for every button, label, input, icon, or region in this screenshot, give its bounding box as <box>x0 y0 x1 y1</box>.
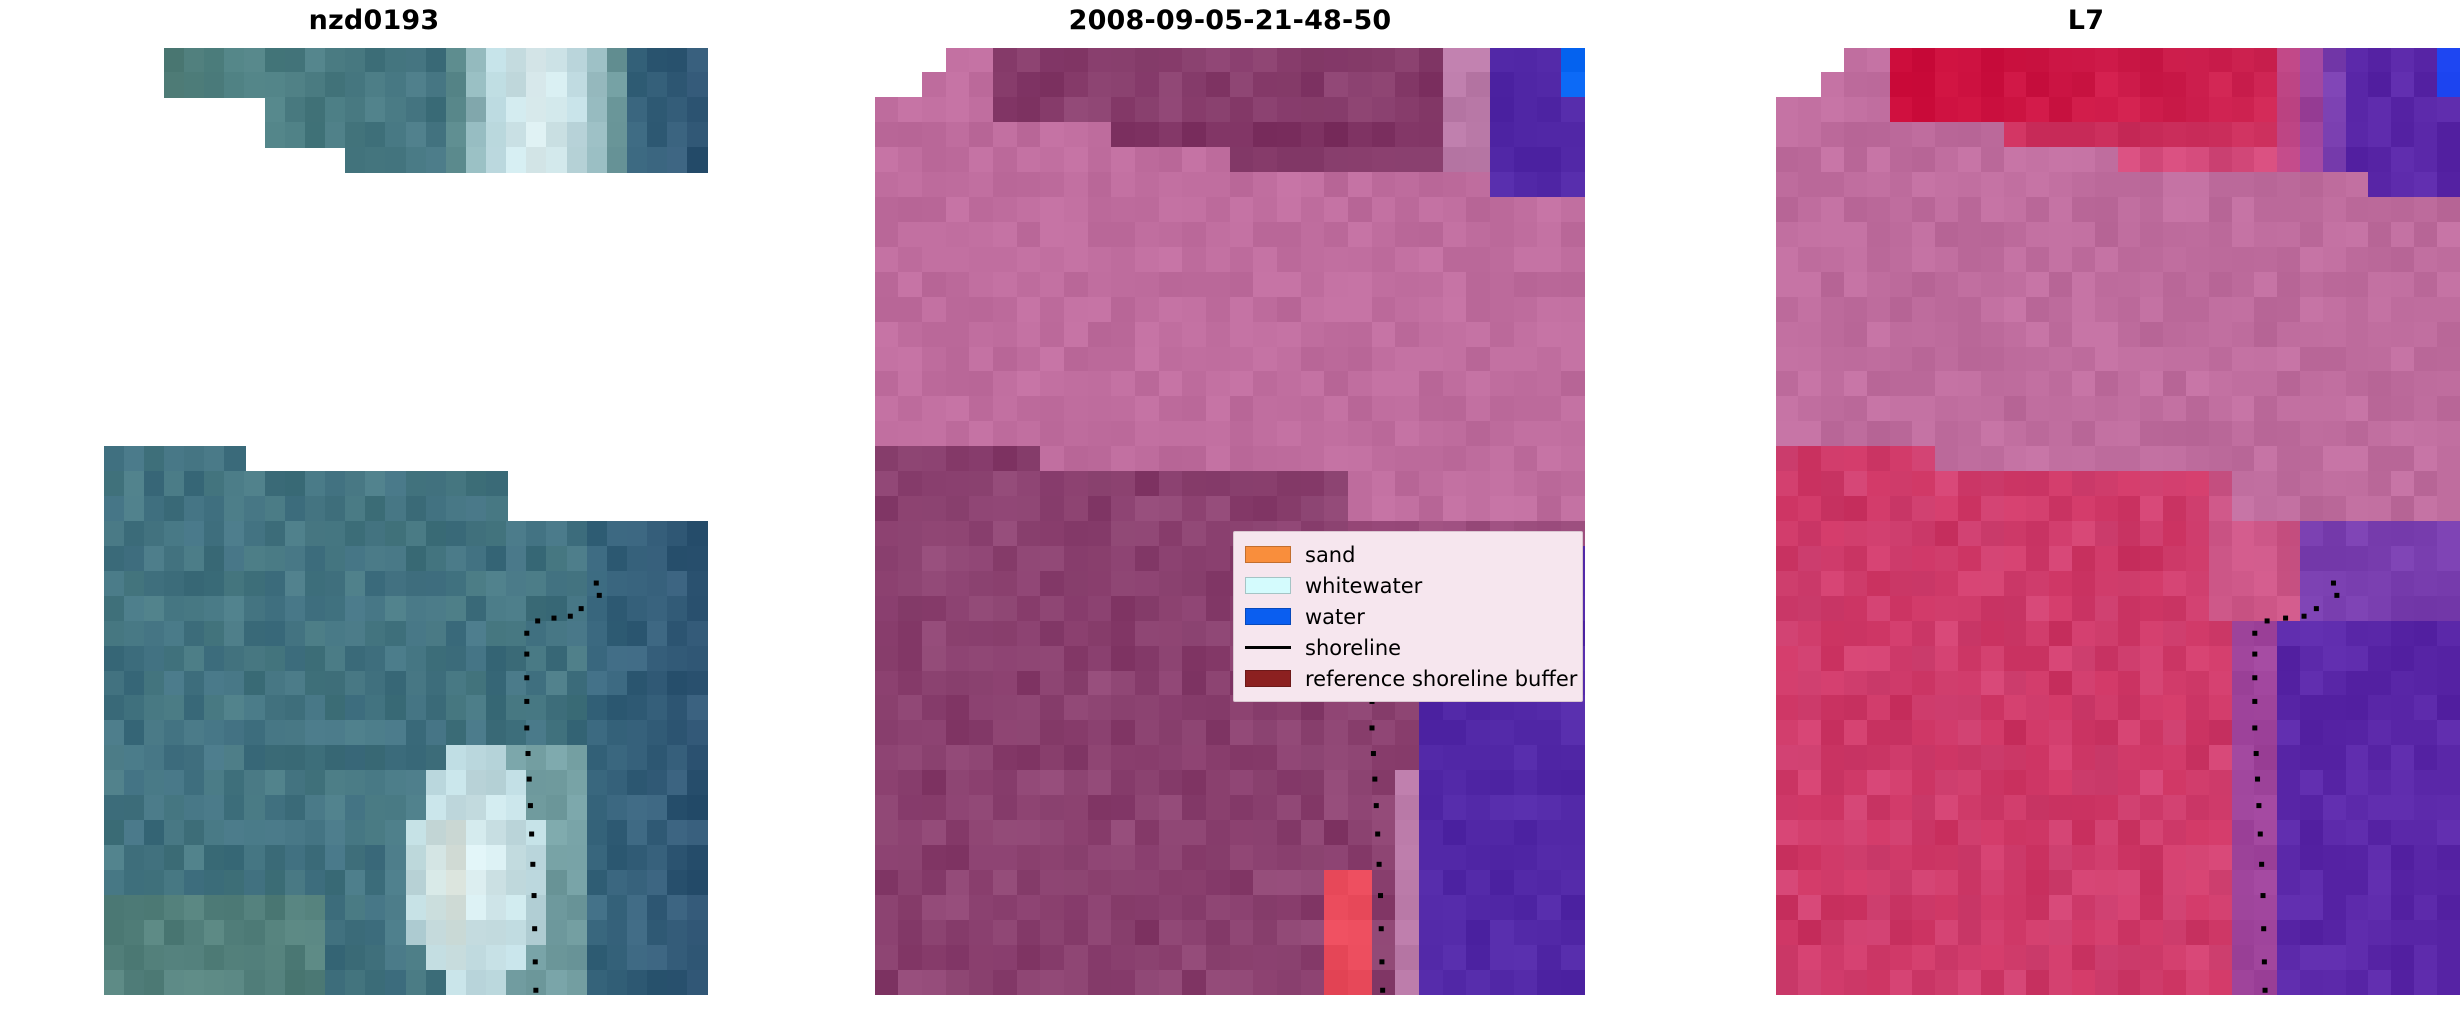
raster-l7 <box>1776 48 2460 995</box>
raster-canvas-l7 <box>1776 48 2460 995</box>
legend-label-water: water <box>1305 605 1365 629</box>
legend-item-reference-shoreline-buffer: reference shoreline buffer <box>1243 663 1573 694</box>
raster-rgb <box>104 48 708 995</box>
legend-label-reference-shoreline-buffer: reference shoreline buffer <box>1305 667 1577 691</box>
panel-rgb: nzd0193 <box>0 0 748 1013</box>
legend-item-sand: sand <box>1243 539 1573 570</box>
raster-classified <box>875 48 1585 995</box>
legend-label-sand: sand <box>1305 543 1355 567</box>
raster-canvas-rgb <box>104 48 708 995</box>
panel-l7: L7 <box>1712 0 2460 1013</box>
legend-swatch-sand <box>1245 546 1291 563</box>
legend-swatch-water <box>1245 608 1291 625</box>
panel-classified: 2008-09-05-21-48-50 <box>856 0 1604 1013</box>
legend-label-shoreline: shoreline <box>1305 636 1401 660</box>
legend-label-whitewater: whitewater <box>1305 574 1422 598</box>
legend-swatch-shoreline <box>1245 646 1291 649</box>
legend-item-shoreline: shoreline <box>1243 632 1573 663</box>
panel-title-rgb: nzd0193 <box>0 4 748 38</box>
legend: sand whitewater water shoreline referenc… <box>1233 531 1583 702</box>
panel-title-classified: 2008-09-05-21-48-50 <box>856 4 1604 38</box>
legend-item-water: water <box>1243 601 1573 632</box>
panel-title-l7: L7 <box>1712 4 2460 38</box>
legend-swatch-reference-shoreline-buffer <box>1245 670 1291 687</box>
legend-item-whitewater: whitewater <box>1243 570 1573 601</box>
raster-canvas-classified <box>875 48 1585 995</box>
legend-swatch-whitewater <box>1245 577 1291 594</box>
figure-root: nzd0193 2008-09-05-21-48-50 L7 sand whit… <box>0 0 2460 1013</box>
